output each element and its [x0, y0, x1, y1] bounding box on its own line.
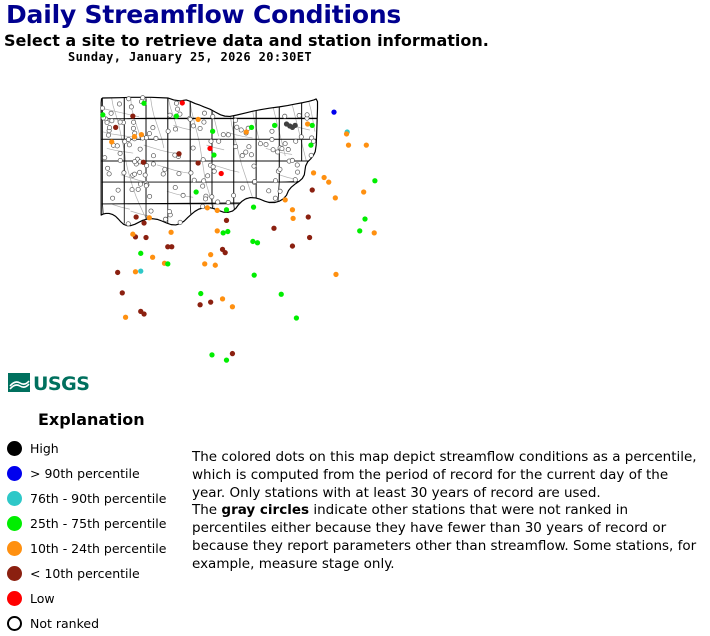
description-p2-prefix: The	[192, 502, 221, 518]
station-marker[interactable]	[294, 315, 299, 320]
station-marker-not-ranked[interactable]	[105, 120, 109, 124]
ohio-streamflow-map[interactable]	[0, 66, 420, 376]
station-marker[interactable]	[141, 311, 146, 316]
station-marker-not-ranked[interactable]	[163, 167, 167, 171]
station-marker-not-ranked[interactable]	[221, 133, 225, 137]
station-marker-not-ranked[interactable]	[275, 150, 279, 154]
station-marker-not-ranked[interactable]	[209, 139, 213, 143]
usgs-wordmark: USGS	[33, 373, 89, 395]
station-marker[interactable]	[344, 131, 349, 136]
station-marker[interactable]	[224, 207, 229, 212]
legend-swatch-icon	[7, 466, 22, 481]
station-marker-not-ranked[interactable]	[138, 170, 142, 174]
station-marker-not-ranked[interactable]	[273, 179, 277, 183]
station-marker-not-ranked[interactable]	[151, 125, 155, 129]
station-marker[interactable]	[219, 171, 224, 176]
station-marker[interactable]	[130, 113, 135, 118]
station-marker-not-ranked[interactable]	[173, 153, 177, 157]
station-marker-not-ranked[interactable]	[210, 195, 214, 199]
usgs-logo[interactable]: USGS	[8, 370, 104, 396]
station-marker-not-ranked[interactable]	[240, 153, 244, 157]
station-marker[interactable]	[357, 228, 362, 233]
station-marker-not-ranked[interactable]	[117, 102, 121, 106]
station-marker-not-ranked[interactable]	[143, 173, 147, 177]
station-marker-not-ranked[interactable]	[177, 171, 181, 175]
legend-row: 76th - 90th percentile	[7, 486, 187, 511]
legend-label: Low	[30, 591, 55, 606]
station-marker-not-ranked[interactable]	[147, 131, 151, 135]
legend-label: > 90th percentile	[30, 466, 140, 481]
station-marker[interactable]	[195, 160, 200, 165]
station-marker-not-ranked[interactable]	[212, 169, 216, 173]
station-marker[interactable]	[311, 170, 316, 175]
station-marker[interactable]	[139, 132, 144, 137]
usgs-logo-svg: USGS	[8, 370, 104, 396]
station-marker-not-ranked[interactable]	[154, 136, 158, 140]
station-marker-not-ranked[interactable]	[271, 148, 275, 152]
station-marker-not-ranked[interactable]	[226, 133, 230, 137]
station-marker[interactable]	[202, 261, 207, 266]
station-marker-not-ranked[interactable]	[231, 193, 235, 197]
legend-row: 25th - 75th percentile	[7, 511, 187, 536]
station-marker-not-ranked[interactable]	[126, 222, 130, 226]
station-marker[interactable]	[207, 146, 212, 151]
station-marker-not-ranked[interactable]	[161, 172, 165, 176]
station-marker-not-ranked[interactable]	[258, 142, 262, 146]
description-paragraph-1: The colored dots on this map depict stre…	[192, 449, 704, 502]
station-marker[interactable]	[215, 228, 220, 233]
legend-label: 25th - 75th percentile	[30, 516, 166, 531]
station-marker[interactable]	[198, 291, 203, 296]
station-marker[interactable]	[133, 214, 138, 219]
legend-row: 10th - 24th percentile	[7, 536, 187, 561]
station-marker[interactable]	[211, 152, 216, 157]
legend-label: High	[30, 441, 59, 456]
station-marker[interactable]	[333, 272, 338, 277]
station-marker[interactable]	[221, 230, 226, 235]
station-marker[interactable]	[209, 352, 214, 357]
station-marker-not-ranked[interactable]	[107, 172, 111, 176]
station-marker[interactable]	[326, 179, 331, 184]
station-marker[interactable]	[251, 205, 256, 210]
station-marker-not-ranked[interactable]	[175, 107, 179, 111]
station-marker-not-ranked[interactable]	[138, 147, 142, 151]
station-marker-not-ranked[interactable]	[138, 182, 142, 186]
station-marker[interactable]	[310, 123, 315, 128]
station-marker[interactable]	[250, 239, 255, 244]
station-marker-not-ranked[interactable]	[192, 178, 196, 182]
station-marker-not-ranked[interactable]	[217, 139, 221, 143]
station-marker-not-ranked[interactable]	[216, 200, 220, 204]
station-marker-not-ranked[interactable]	[203, 197, 207, 201]
legend-swatch-icon	[7, 616, 22, 631]
station-marker[interactable]	[306, 214, 311, 219]
legend-label: 76th - 90th percentile	[30, 491, 166, 506]
station-marker-not-ranked[interactable]	[295, 163, 299, 167]
station-marker-not-ranked[interactable]	[116, 188, 120, 192]
station-marker[interactable]	[141, 220, 146, 225]
station-marker-not-ranked[interactable]	[240, 186, 244, 190]
legend-swatch-icon	[7, 566, 22, 581]
station-marker-not-ranked[interactable]	[166, 129, 170, 133]
station-marker[interactable]	[223, 250, 228, 255]
station-marker-not-ranked[interactable]	[144, 184, 148, 188]
station-marker[interactable]	[224, 358, 229, 363]
station-marker[interactable]	[225, 229, 230, 234]
station-marker-not-ranked[interactable]	[167, 209, 171, 213]
station-marker[interactable]	[308, 143, 313, 148]
station-marker-not-ranked[interactable]	[293, 178, 297, 182]
station-marker-not-ranked[interactable]	[110, 119, 114, 123]
station-marker[interactable]	[252, 272, 257, 277]
timestamp: Sunday, January 25, 2026 20:30ET	[68, 50, 312, 64]
station-marker-not-ranked[interactable]	[201, 158, 205, 162]
station-marker[interactable]	[141, 101, 146, 106]
station-marker[interactable]	[115, 270, 120, 275]
station-marker[interactable]	[283, 197, 288, 202]
station-marker-not-ranked[interactable]	[126, 137, 130, 141]
station-marker-not-ranked[interactable]	[202, 111, 206, 115]
station-marker-not-ranked[interactable]	[133, 159, 137, 163]
station-marker-not-ranked[interactable]	[129, 105, 133, 109]
station-marker[interactable]	[220, 296, 225, 301]
station-marker-not-ranked[interactable]	[239, 128, 243, 132]
station-marker-not-ranked[interactable]	[191, 146, 195, 150]
station-marker-not-ranked[interactable]	[264, 142, 268, 146]
station-marker[interactable]	[150, 255, 155, 260]
legend-label: Not ranked	[30, 616, 99, 631]
station-marker-not-ranked[interactable]	[130, 187, 134, 191]
station-marker-not-ranked[interactable]	[286, 147, 290, 151]
legend-row: High	[7, 436, 187, 461]
station-marker[interactable]	[205, 205, 210, 210]
station-marker-not-ranked[interactable]	[103, 156, 107, 160]
station-marker[interactable]	[310, 187, 315, 192]
legend-swatch-icon	[7, 441, 22, 456]
station-marker[interactable]	[372, 178, 377, 183]
station-marker-not-ranked[interactable]	[201, 184, 205, 188]
station-marker[interactable]	[138, 268, 143, 273]
station-marker-not-ranked[interactable]	[141, 96, 145, 100]
map-svg[interactable]	[0, 66, 420, 376]
station-marker[interactable]	[194, 189, 199, 194]
station-marker-not-ranked[interactable]	[106, 133, 110, 137]
station-marker[interactable]	[109, 139, 114, 144]
page-subtitle: Select a site to retrieve data and stati…	[4, 31, 489, 50]
station-marker[interactable]	[224, 218, 229, 223]
station-marker-not-ranked[interactable]	[206, 174, 210, 178]
station-marker-not-ranked[interactable]	[118, 158, 122, 162]
station-marker-not-ranked[interactable]	[189, 171, 193, 175]
station-marker[interactable]	[362, 216, 367, 221]
station-marker-not-ranked[interactable]	[109, 111, 113, 115]
legend-row: < 10th percentile	[7, 561, 187, 586]
station-marker[interactable]	[174, 113, 179, 118]
station-marker-not-ranked[interactable]	[173, 127, 177, 131]
station-marker-not-ranked[interactable]	[270, 137, 274, 141]
station-marker[interactable]	[333, 195, 338, 200]
description-text: The colored dots on this map depict stre…	[192, 449, 704, 574]
station-marker[interactable]	[195, 117, 200, 122]
station-marker-not-ranked[interactable]	[136, 187, 140, 191]
station-marker[interactable]	[230, 304, 235, 309]
station-marker-not-ranked[interactable]	[311, 139, 315, 143]
legend-row: Not ranked	[7, 611, 187, 636]
station-marker[interactable]	[290, 207, 295, 212]
station-marker-not-ranked[interactable]	[122, 171, 126, 175]
station-marker-not-ranked[interactable]	[202, 120, 206, 124]
station-marker[interactable]	[292, 123, 297, 128]
station-marker[interactable]	[169, 244, 174, 249]
station-marker[interactable]	[165, 261, 170, 266]
station-marker-not-ranked[interactable]	[244, 150, 248, 154]
station-marker-not-ranked[interactable]	[115, 144, 119, 148]
station-marker[interactable]	[113, 125, 118, 130]
legend-swatch-icon	[7, 516, 22, 531]
station-marker[interactable]	[279, 292, 284, 297]
station-marker-not-ranked[interactable]	[280, 146, 284, 150]
station-marker[interactable]	[230, 351, 235, 356]
station-marker[interactable]	[197, 302, 202, 307]
legend-row: Low	[7, 586, 187, 611]
station-marker[interactable]	[364, 143, 369, 148]
station-marker-not-ranked[interactable]	[147, 194, 151, 198]
station-marker[interactable]	[372, 230, 377, 235]
station-marker[interactable]	[168, 230, 173, 235]
station-marker-not-ranked[interactable]	[107, 125, 111, 129]
legend-swatch-icon	[7, 491, 22, 506]
station-marker-not-ranked[interactable]	[202, 179, 206, 183]
station-marker-not-ranked[interactable]	[247, 145, 251, 149]
station-marker[interactable]	[120, 290, 125, 295]
station-marker-not-ranked[interactable]	[163, 217, 167, 221]
station-marker-not-ranked[interactable]	[267, 189, 271, 193]
station-marker-not-ranked[interactable]	[100, 106, 104, 110]
station-marker-not-ranked[interactable]	[290, 158, 294, 162]
station-marker-not-ranked[interactable]	[201, 204, 205, 208]
station-marker[interactable]	[244, 129, 249, 134]
station-marker-not-ranked[interactable]	[252, 164, 256, 168]
station-marker-not-ranked[interactable]	[278, 189, 282, 193]
station-marker-not-ranked[interactable]	[168, 113, 172, 117]
station-marker-not-ranked[interactable]	[118, 151, 122, 155]
legend-label: < 10th percentile	[30, 566, 140, 581]
station-marker[interactable]	[123, 315, 128, 320]
explanation-heading: Explanation	[38, 410, 145, 429]
station-marker[interactable]	[213, 263, 218, 268]
station-marker-not-ranked[interactable]	[253, 179, 257, 183]
station-marker-not-ranked[interactable]	[273, 196, 277, 200]
station-marker[interactable]	[331, 110, 336, 115]
station-marker[interactable]	[307, 235, 312, 240]
station-marker-not-ranked[interactable]	[226, 200, 230, 204]
station-marker-not-ranked[interactable]	[198, 126, 202, 130]
station-marker-not-ranked[interactable]	[295, 170, 299, 174]
station-marker[interactable]	[290, 216, 295, 221]
station-marker-not-ranked[interactable]	[173, 185, 177, 189]
station-marker-not-ranked[interactable]	[305, 113, 309, 117]
station-marker-not-ranked[interactable]	[174, 101, 178, 105]
station-marker[interactable]	[141, 160, 146, 165]
station-marker[interactable]	[208, 252, 213, 257]
page-title: Daily Streamflow Conditions	[6, 0, 401, 29]
station-marker[interactable]	[143, 235, 148, 240]
station-marker-not-ranked[interactable]	[270, 129, 274, 133]
station-marker[interactable]	[138, 251, 143, 256]
description-p2-bold: gray circles	[221, 502, 309, 518]
station-marker[interactable]	[321, 175, 326, 180]
legend: High> 90th percentile76th - 90th percent…	[7, 436, 187, 636]
legend-label: 10th - 24th percentile	[30, 541, 166, 556]
station-marker[interactable]	[272, 123, 277, 128]
station-marker-not-ranked[interactable]	[283, 142, 287, 146]
station-marker-not-ranked[interactable]	[249, 153, 253, 157]
legend-swatch-icon	[7, 591, 22, 606]
station-marker[interactable]	[305, 121, 310, 126]
station-marker-not-ranked[interactable]	[188, 117, 192, 121]
station-marker-not-ranked[interactable]	[149, 209, 153, 213]
station-marker[interactable]	[132, 134, 137, 139]
legend-row: > 90th percentile	[7, 461, 187, 486]
station-marker-not-ranked[interactable]	[191, 124, 195, 128]
station-marker[interactable]	[249, 125, 254, 130]
station-marker-not-ranked[interactable]	[131, 120, 135, 124]
station-marker-not-ranked[interactable]	[309, 153, 313, 157]
station-marker-not-ranked[interactable]	[297, 113, 301, 117]
station-marker-not-ranked[interactable]	[233, 144, 237, 148]
station-marker[interactable]	[176, 151, 181, 156]
station-marker-not-ranked[interactable]	[127, 143, 131, 147]
station-marker[interactable]	[215, 208, 220, 213]
station-marker[interactable]	[100, 112, 105, 117]
station-marker-not-ranked[interactable]	[294, 139, 298, 143]
station-marker[interactable]	[290, 243, 295, 248]
station-marker-not-ranked[interactable]	[233, 118, 237, 122]
station-marker-not-ranked[interactable]	[181, 193, 185, 197]
station-marker-not-ranked[interactable]	[211, 114, 215, 118]
station-marker-not-ranked[interactable]	[131, 126, 135, 130]
station-marker[interactable]	[133, 269, 138, 274]
station-marker-not-ranked[interactable]	[105, 166, 109, 170]
description-paragraph-2: The gray circles indicate other stations…	[192, 502, 704, 573]
station-marker[interactable]	[208, 299, 213, 304]
station-marker-not-ranked[interactable]	[132, 172, 136, 176]
legend-swatch-icon	[7, 541, 22, 556]
station-marker-not-ranked[interactable]	[211, 165, 215, 169]
station-marker-not-ranked[interactable]	[151, 154, 155, 158]
station-marker[interactable]	[147, 215, 152, 220]
station-marker[interactable]	[130, 232, 135, 237]
station-marker[interactable]	[361, 189, 366, 194]
station-marker[interactable]	[210, 129, 215, 134]
station-marker[interactable]	[346, 143, 351, 148]
station-marker[interactable]	[255, 240, 260, 245]
station-marker-not-ranked[interactable]	[118, 120, 122, 124]
station-marker-not-ranked[interactable]	[278, 167, 282, 171]
station-marker-not-ranked[interactable]	[178, 220, 182, 224]
station-marker-not-ranked[interactable]	[127, 97, 131, 101]
station-marker-not-ranked[interactable]	[235, 125, 239, 129]
station-marker[interactable]	[180, 100, 185, 105]
station-marker-not-ranked[interactable]	[299, 135, 303, 139]
station-marker-not-ranked[interactable]	[110, 196, 114, 200]
station-marker-not-ranked[interactable]	[283, 114, 287, 118]
station-marker-not-ranked[interactable]	[151, 162, 155, 166]
station-marker[interactable]	[271, 226, 276, 231]
